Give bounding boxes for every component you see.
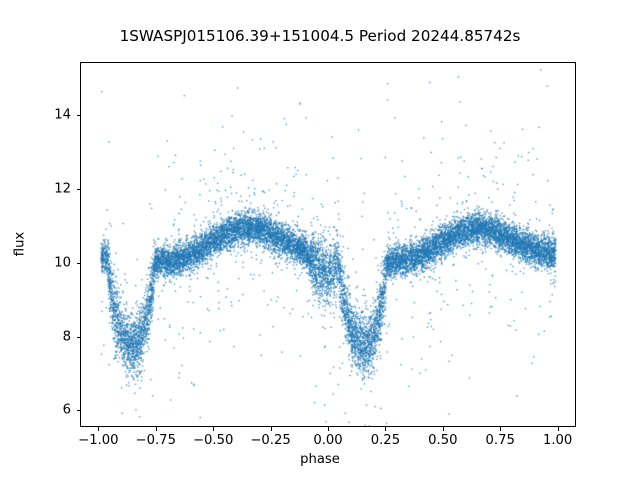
x-tick-label: 0.25 bbox=[371, 433, 400, 448]
x-tick-label: −0.75 bbox=[136, 433, 176, 448]
y-tick-mark bbox=[77, 337, 81, 338]
y-tick-label: 10 bbox=[54, 255, 71, 270]
y-tick-label: 12 bbox=[54, 182, 71, 197]
x-tick-label: −0.50 bbox=[193, 433, 233, 448]
x-tick-mark bbox=[156, 427, 157, 431]
x-tick-label: −1.00 bbox=[78, 433, 118, 448]
y-tick-label: 14 bbox=[54, 108, 71, 123]
y-axis-label: flux bbox=[13, 232, 28, 256]
y-tick-mark bbox=[77, 115, 81, 116]
x-tick-mark bbox=[213, 427, 214, 431]
y-tick-mark bbox=[77, 263, 81, 264]
y-tick-label: 6 bbox=[63, 403, 71, 418]
matplotlib-figure: 1SWASPJ015106.39+151004.5 Period 20244.8… bbox=[0, 0, 640, 480]
x-tick-label: 0.75 bbox=[486, 433, 515, 448]
page-title: 1SWASPJ015106.39+151004.5 Period 20244.8… bbox=[0, 27, 640, 45]
x-tick-label: −0.25 bbox=[250, 433, 290, 448]
x-axis-label: phase bbox=[0, 452, 640, 467]
x-tick-mark bbox=[328, 427, 329, 431]
x-tick-label: 1.00 bbox=[543, 433, 572, 448]
x-tick-mark bbox=[271, 427, 272, 431]
x-tick-mark bbox=[443, 427, 444, 431]
scatter-plot-canvas bbox=[81, 63, 577, 428]
x-tick-mark bbox=[558, 427, 559, 431]
x-tick-label: 0.00 bbox=[313, 433, 342, 448]
x-tick-label: 0.50 bbox=[428, 433, 457, 448]
x-tick-mark bbox=[500, 427, 501, 431]
y-tick-mark bbox=[77, 410, 81, 411]
y-tick-label: 8 bbox=[63, 329, 71, 344]
y-tick-mark bbox=[77, 189, 81, 190]
x-tick-mark bbox=[98, 427, 99, 431]
plot-axes bbox=[80, 62, 576, 427]
x-tick-mark bbox=[385, 427, 386, 431]
